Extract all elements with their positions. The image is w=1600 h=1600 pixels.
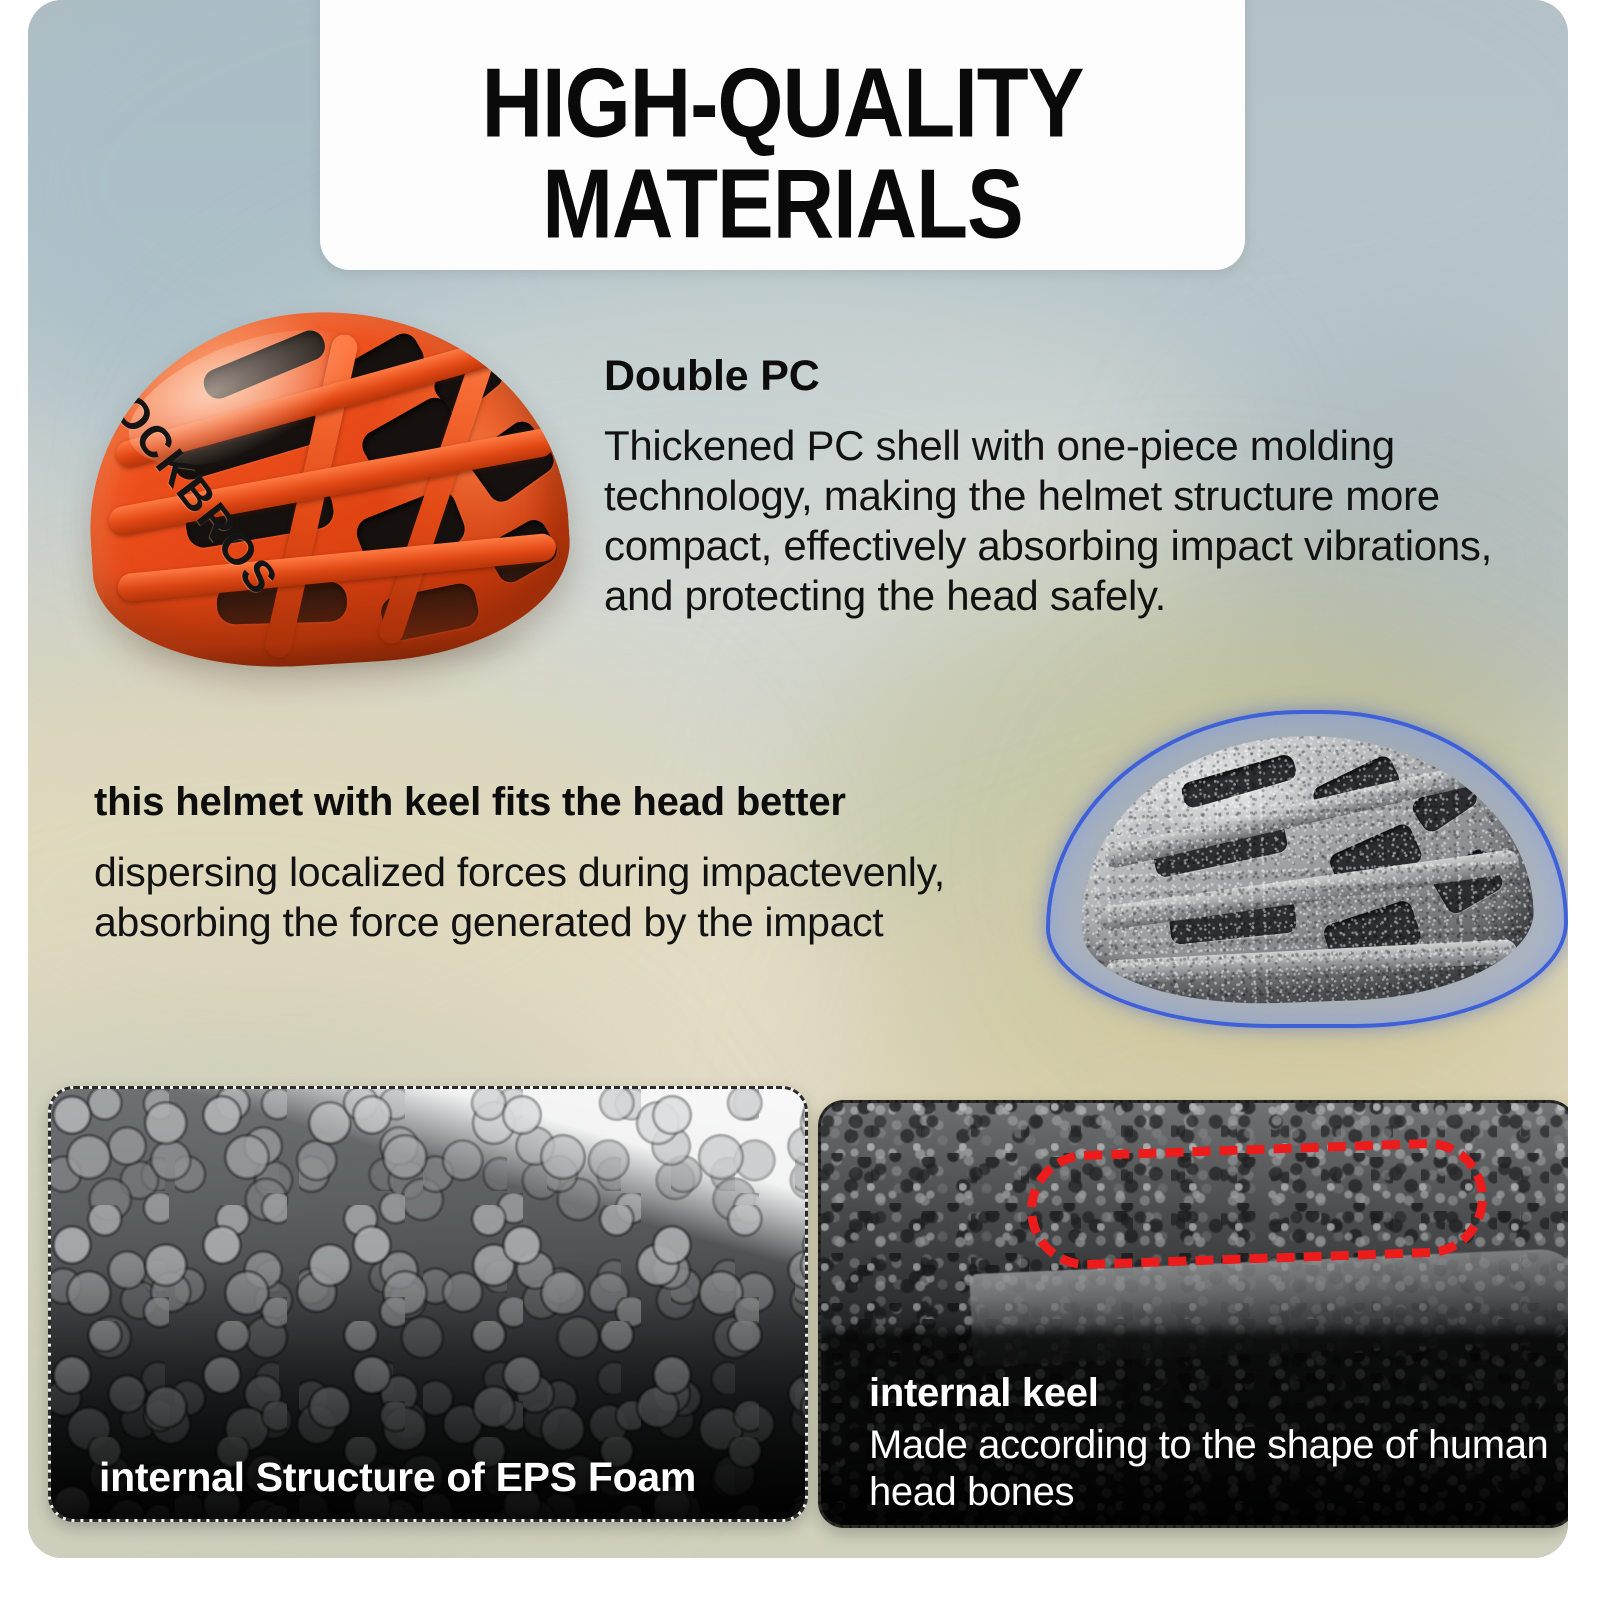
helmet-vent (1180, 753, 1299, 810)
helmet-vent (1321, 899, 1423, 971)
page-title-line-1: HIGH-QUALITY (482, 55, 1084, 153)
eps-foam-photo-panel: internal Structure of EPS Foam (48, 1086, 808, 1522)
helmet-vent (1327, 821, 1424, 895)
double-pc-section: Double PC Thickened PC shell with one-pi… (604, 352, 1534, 621)
helmet-vent (1409, 771, 1481, 836)
eps-foam-caption: internal Structure of EPS Foam (99, 1454, 696, 1501)
keel-fit-body: dispersing localized forces during impac… (94, 847, 1074, 947)
keel-fit-section: this helmet with keel fits the head bett… (94, 780, 1074, 947)
helmet-vent (1168, 898, 1297, 945)
internal-keel-caption: internal keel Made according to the shap… (869, 1371, 1568, 1515)
helmet-rib (1105, 939, 1518, 985)
internal-keel-photo-panel: internal keel Made according to the shap… (818, 1100, 1568, 1528)
double-pc-body: Thickened PC shell with one-piece moldin… (604, 421, 1534, 621)
helmet-rib (1097, 849, 1520, 932)
internal-keel-caption-title: internal keel (869, 1371, 1568, 1416)
orange-helmet-image: ROCKBROS (80, 296, 580, 696)
helmet-rib (1103, 756, 1507, 870)
page-title-line-2: MATERIALS (542, 156, 1023, 254)
title-plate: HIGH-QUALITY MATERIALS (320, 0, 1245, 270)
keel-annotation-outline (1025, 1137, 1489, 1271)
poster-card: HIGH-QUALITY MATERIALS ROCKBROS (28, 0, 1568, 1558)
double-pc-heading: Double PC (604, 352, 1534, 401)
eps-foam-helmet-body (1075, 728, 1536, 1010)
helmet-vent (1152, 821, 1289, 878)
internal-keel-caption-sub: Made according to the shape of human hea… (869, 1422, 1568, 1515)
orange-helmet-shell: ROCKBROS (78, 298, 577, 679)
keel-fit-heading: this helmet with keel fits the head bett… (94, 780, 1074, 825)
eps-foam-helmet-image (1038, 706, 1568, 1036)
helmet-vent (1310, 753, 1402, 821)
helmet-vent (1429, 846, 1506, 917)
